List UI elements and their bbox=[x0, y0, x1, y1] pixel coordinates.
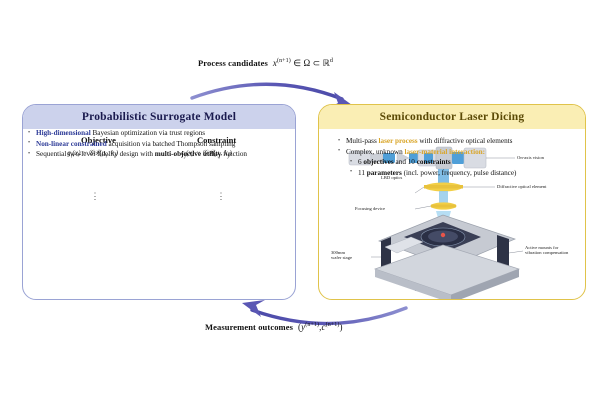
measurement-outcomes-arrow bbox=[242, 300, 406, 324]
constraint-gp-plot-bottom bbox=[163, 208, 279, 242]
diffractive-optical-element-label: Diffractive optical element bbox=[497, 184, 546, 189]
wafer-stage-label: 300mm wafer stage bbox=[331, 250, 352, 261]
objective-gp-plot-top bbox=[37, 159, 153, 193]
on-axis-vision-label: On-axis vision bbox=[517, 155, 544, 160]
list-item: Multi-pass laser process with diffractiv… bbox=[338, 136, 516, 147]
right-panel-title: Semiconductor Laser Dicing bbox=[319, 105, 585, 129]
objective-plot-ellipsis: ⋮ bbox=[90, 195, 100, 198]
list-item: Complex, unknown laser-material interact… bbox=[338, 147, 516, 158]
active-mounts-label: Active mounts for vibration compensation bbox=[525, 245, 568, 256]
semiconductor-laser-dicing-panel: Semiconductor Laser Dicing bbox=[318, 104, 586, 300]
measurement-outcomes-formula: (y(n+1),c(n+1)) bbox=[298, 322, 343, 332]
diagram-canvas: Process candidatesx(n+1) ∈ Ω ⊂ ℝd Measur… bbox=[0, 0, 600, 400]
list-item: 6 objectives and 10 constraints bbox=[350, 157, 516, 168]
list-item: High-dimensional Bayesian optimization v… bbox=[28, 128, 247, 139]
list-item: Non-linear constrained acquisition via b… bbox=[28, 139, 247, 150]
measurement-outcomes-label: Measurement outcomes bbox=[205, 322, 293, 332]
focusing-device-label: Focusing device bbox=[355, 206, 385, 211]
left-panel-bullets: High-dimensional Bayesian optimization v… bbox=[28, 128, 247, 160]
wafer-stage-assembly bbox=[375, 215, 519, 300]
left-panel-title: Probabilistic Surrogate Model bbox=[23, 105, 295, 129]
process-candidates-caption: Process candidatesx(n+1) ∈ Ω ⊂ ℝd bbox=[198, 58, 333, 69]
process-candidates-formula: x(n+1) ∈ Ω ⊂ ℝd bbox=[273, 58, 333, 68]
constraint-gp-plot-top bbox=[163, 159, 279, 193]
constraint-plot-ellipsis: ⋮ bbox=[216, 195, 226, 198]
list-item: 11 parameters (incl. power, frequency, p… bbox=[350, 168, 516, 179]
right-panel-bullets: Multi-pass laser process with diffractiv… bbox=[338, 136, 516, 178]
process-candidates-label: Process candidates bbox=[198, 58, 268, 68]
list-item: Sequential two-level fidelity design wit… bbox=[28, 149, 247, 160]
objective-gp-plot-bottom bbox=[37, 208, 153, 242]
measurement-outcomes-caption: Measurement outcomes(y(n+1),c(n+1)) bbox=[205, 322, 343, 332]
